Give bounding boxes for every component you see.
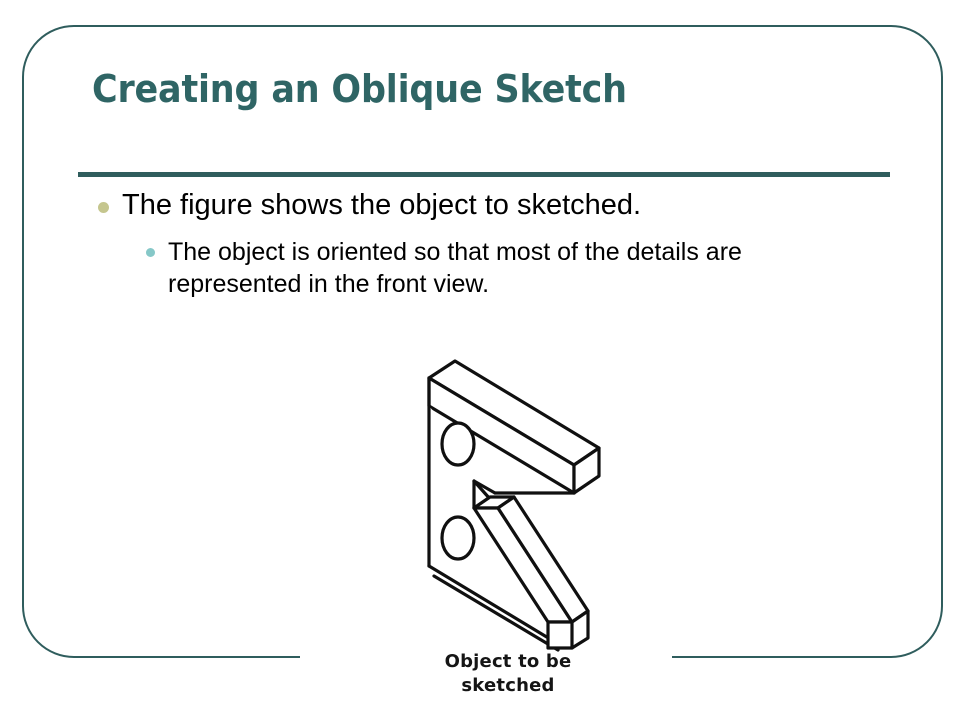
bullet-dot-level2-icon <box>146 248 155 257</box>
upper-hole <box>442 423 474 465</box>
bullet-level1-text: The figure shows the object to sketched. <box>122 189 641 221</box>
bullet-level2-text: The object is oriented so that most of t… <box>168 238 742 298</box>
lower-hole <box>442 517 474 559</box>
figure-caption-line2: sketched <box>382 674 634 698</box>
figure-caption-line1: Object to be <box>382 650 634 674</box>
object-sketch-figure <box>382 348 634 680</box>
bullet-level1: The figure shows the object to sketched. <box>78 186 898 224</box>
bullet-dot-level1-icon <box>98 202 109 213</box>
slide-body: The figure shows the object to sketched.… <box>78 186 898 300</box>
figure-caption: Object to be sketched <box>382 650 634 698</box>
title-divider <box>78 172 890 177</box>
bullet-level2: The object is oriented so that most of t… <box>136 236 828 300</box>
page-title: Creating an Oblique Sketch <box>92 66 828 112</box>
bracket-body <box>429 361 599 650</box>
